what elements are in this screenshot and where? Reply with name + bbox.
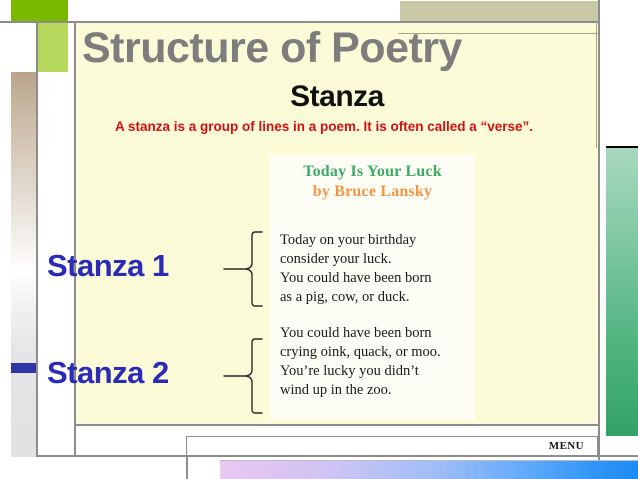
- poem-line: You’re lucky you didn’t: [280, 362, 475, 381]
- poem-title: Today Is Your Luck: [270, 163, 475, 181]
- left-gradient-sidebar: [11, 72, 37, 457]
- poem-author: by Bruce Lansky: [270, 183, 475, 201]
- decorative-khaki-bar: [400, 1, 598, 21]
- left-sidebar-blue-accent: [11, 363, 37, 373]
- right-white-block: [598, 0, 638, 148]
- poem-line: You could have been born: [280, 269, 475, 288]
- poem-line: Today on your birthday: [280, 231, 475, 250]
- left-white-corner-block: [0, 22, 26, 72]
- stanza-2-label: Stanza 2: [47, 355, 169, 391]
- slide-canvas: Structure of Poetry Stanza A stanza is a…: [0, 0, 638, 479]
- divider-left-outer-vertical: [36, 22, 38, 457]
- decorative-green-block-dark: [11, 0, 68, 21]
- decorative-green-block-light: [38, 23, 68, 72]
- top-white-strip: [68, 0, 398, 22]
- slide-subtitle: Stanza: [76, 80, 598, 114]
- poem-line: consider your luck.: [280, 250, 475, 269]
- right-green-gradient-bar: [606, 148, 638, 436]
- menu-bar[interactable]: MENU: [186, 436, 598, 456]
- poem-stanza-2: You could have been born crying oink, qu…: [270, 324, 475, 400]
- stanza-definition-text: A stanza is a group of lines in a poem. …: [44, 119, 604, 134]
- stanza-1-label: Stanza 1: [47, 248, 169, 284]
- poem-line: crying oink, quack, or moo.: [280, 343, 475, 362]
- stanza-1-brace-icon: [222, 230, 264, 308]
- poem-stanza-1: Today on your birthday consider your luc…: [270, 231, 475, 307]
- divider-panel-right-vertical: [598, 0, 600, 479]
- poem-card: Today Is Your Luck by Bruce Lansky Today…: [270, 155, 475, 420]
- bottom-gradient-strip: [220, 461, 638, 479]
- page-title: Structure of Poetry: [82, 22, 552, 74]
- menu-button-label[interactable]: MENU: [549, 440, 584, 452]
- poem-line: wind up in the zoo.: [280, 381, 475, 400]
- poem-line: You could have been born: [280, 324, 475, 343]
- stanza-2-brace-icon: [222, 337, 264, 415]
- poem-line: as a pig, cow, or duck.: [280, 288, 475, 307]
- divider-panel-bottom-horizontal: [76, 424, 598, 426]
